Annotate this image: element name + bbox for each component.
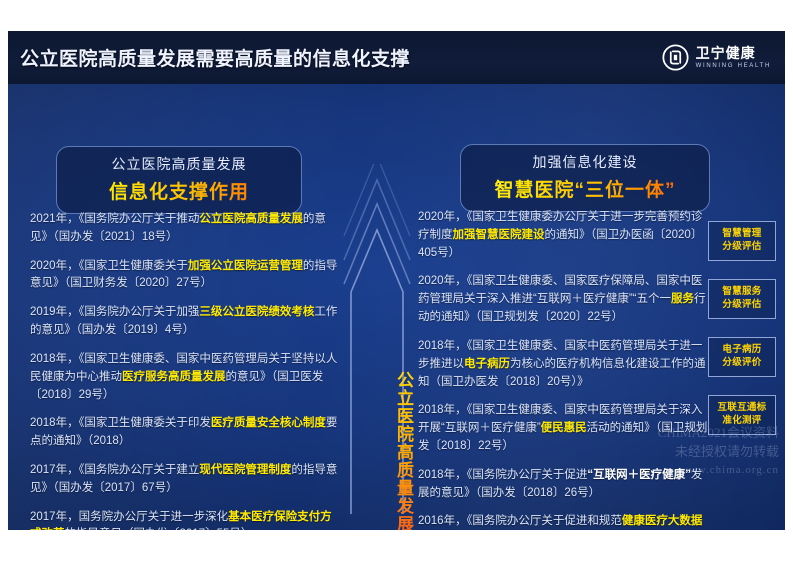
policy-highlight: 公立医院高质量发展 <box>199 213 303 225</box>
policy-item: 2018年，《国家卫生健康委关于印发医疗质量安全核心制度要点的通知》（2018） <box>30 415 342 451</box>
policy-item: 2020年，《国家卫生健康委关于加强公立医院运营管理的指导意见》（国卫财务发〔2… <box>30 258 342 294</box>
policy-highlight: 三级公立医院绩效考核 <box>199 306 314 318</box>
policy-text: 2020年，《国家卫生健康委关于 <box>30 260 188 272</box>
winning-health-logo-icon <box>662 44 689 71</box>
policy-highlight: 加强智慧医院建设 <box>453 229 545 241</box>
badge-line-2: 分级评价 <box>722 357 761 370</box>
slide-canvas: 公立医院高质量发展需要高质量的信息化支撑 卫宁健康 WINNING HEALTH… <box>8 31 785 530</box>
policy-item: 2018年，《国家卫生健康委、国家中医药管理局关于深入开展“互联网＋医疗健康”便… <box>418 402 708 455</box>
evaluation-badge-list: 智慧管理分级评估智慧服务分级评估电子病历分级评价互联互通标准化测评 <box>708 221 776 453</box>
badge-line-2: 准化测评 <box>722 415 761 428</box>
policy-text: 的指导意见（国办发〔2017〕55号） <box>65 528 253 530</box>
evaluation-badge[interactable]: 智慧管理分级评估 <box>708 221 776 261</box>
policy-item: 2019年，《国务院办公厅关于加强三级公立医院绩效考核工作的意见》（国办发〔20… <box>30 304 342 340</box>
up-chevron-arrow-icon: 公立医院高质量发展 <box>338 164 416 514</box>
policy-highlight: 医疗质量安全核心制度 <box>211 417 326 429</box>
badge-line-2: 分级评估 <box>722 241 761 254</box>
policy-item: 2018年，《国务院办公厅关于促进“互联网＋医疗健康”发展的意见》（国办发〔20… <box>418 467 708 503</box>
policy-highlight: “互联网＋医疗健康” <box>587 469 691 481</box>
policy-highlight: 电子病历 <box>464 358 510 370</box>
brand-name-cn: 卫宁健康 <box>696 46 771 60</box>
badge-line-1: 智慧管理 <box>722 228 761 241</box>
policy-highlight: 便民惠民 <box>541 422 587 434</box>
panel-left-subtitle: 公立医院高质量发展 <box>57 154 301 174</box>
policy-highlight: 加强公立医院运营管理 <box>188 260 303 272</box>
policy-text: 2017年，《国务院办公厅关于建立 <box>30 464 199 476</box>
policy-item: 2016年，《国务院办公厅关于促进和规范健康医疗大数据应用发展的指导意见》（国办… <box>418 513 708 530</box>
policy-highlight: 服务 <box>671 293 694 305</box>
badge-line-1: 电子病历 <box>722 344 761 357</box>
evaluation-badge[interactable]: 智慧服务分级评估 <box>708 279 776 319</box>
policy-item: 2021年，《国务院办公厅关于推动公立医院高质量发展的意见》（国办发〔2021〕… <box>30 211 342 247</box>
policy-text: 2020年，《国家卫生健康委、国家医疗保障局、国家中医药管理局关于深入推进“互联… <box>418 275 702 305</box>
policy-list-right: 2020年，《国家卫生健康委办公厅关于进一步完善预约诊疗制度加强智慧医院建设的通… <box>418 209 708 530</box>
policy-text: 2016年，《国务院办公厅关于促进和规范 <box>418 515 622 527</box>
panel-header-left: 公立医院高质量发展 信息化支撑作用 <box>56 146 302 214</box>
page-title: 公立医院高质量发展需要高质量的信息化支撑 <box>20 44 410 71</box>
policy-highlight: 医疗服务高质量发展 <box>122 371 226 383</box>
policy-item: 2018年，《国家卫生健康委、国家中医药管理局关于坚持以人民健康为中心推动医疗服… <box>30 351 342 404</box>
brand-name-en: WINNING HEALTH <box>696 63 771 69</box>
evaluation-badge[interactable]: 互联互通标准化测评 <box>708 395 776 435</box>
policy-item: 2020年，《国家卫生健康委办公厅关于进一步完善预约诊疗制度加强智慧医院建设的通… <box>418 209 708 262</box>
policy-text: 2019年，《国务院办公厅关于加强 <box>30 306 199 318</box>
badge-line-2: 分级评估 <box>722 299 761 312</box>
brand-logo: 卫宁健康 WINNING HEALTH <box>662 42 771 72</box>
panel-header-right: 加强信息化建设 智慧医院“三位一体” <box>460 144 710 212</box>
policy-text: 2018年，《国家卫生健康委关于印发 <box>30 417 211 429</box>
policy-highlight: 现代医院管理制度 <box>199 464 291 476</box>
policy-item: 2017年，国务院办公厅关于进一步深化基本医疗保险支付方式改革的指导意见（国办发… <box>30 509 342 530</box>
arrow-label: 公立医院高质量发展 <box>338 332 416 530</box>
policy-text: 2017年，国务院办公厅关于进一步深化 <box>30 511 228 523</box>
policy-text: 2018年，《国务院办公厅关于促进 <box>418 469 587 481</box>
panel-right-subtitle: 加强信息化建设 <box>461 152 709 172</box>
brand-logo-text: 卫宁健康 WINNING HEALTH <box>696 46 771 69</box>
policy-item: 2020年，《国家卫生健康委、国家医疗保障局、国家中医药管理局关于深入推进“互联… <box>418 273 708 326</box>
policy-list-left: 2021年，《国务院办公厅关于推动公立医院高质量发展的意见》（国办发〔2021〕… <box>30 211 342 530</box>
policy-item: 2017年，《国务院办公厅关于建立现代医院管理制度的指导意见》（国办发〔2017… <box>30 462 342 498</box>
slide-body: 公立医院高质量发展 信息化支撑作用 加强信息化建设 智慧医院“三位一体” 202… <box>8 84 785 530</box>
policy-item: 2018年，《国家卫生健康委、国家中医药管理局关于进一步推进以电子病历为核心的医… <box>418 338 708 391</box>
evaluation-badge[interactable]: 电子病历分级评价 <box>708 337 776 377</box>
slide-header: 公立医院高质量发展需要高质量的信息化支撑 卫宁健康 WINNING HEALTH <box>8 31 785 85</box>
policy-text: 2021年，《国务院办公厅关于推动 <box>30 213 199 225</box>
badge-line-1: 智慧服务 <box>722 286 761 299</box>
panel-right-title: 智慧医院“三位一体” <box>461 175 709 202</box>
badge-line-1: 互联互通标 <box>717 402 766 415</box>
panel-left-title: 信息化支撑作用 <box>57 177 301 204</box>
